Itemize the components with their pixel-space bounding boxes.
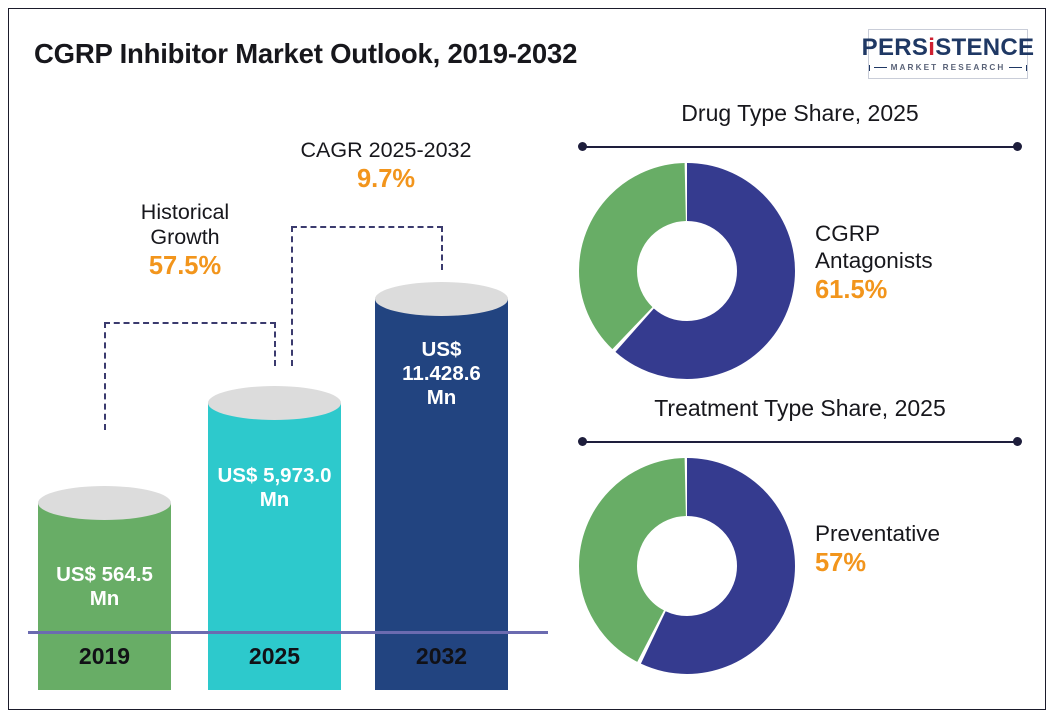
connector-cagr-horizontal	[291, 226, 443, 228]
page-title: CGRP Inhibitor Market Outlook, 2019-2032	[34, 38, 577, 70]
chart-baseline	[28, 631, 548, 634]
donut-chart-treatment-type	[578, 457, 796, 675]
bar-2019-cap	[38, 486, 171, 520]
annotation-cagr: CAGR 2025-2032 9.7%	[266, 138, 506, 195]
logo-tick-right	[1026, 65, 1027, 71]
x-axis-label-2019: 2019	[38, 643, 171, 670]
donut-legend-drug-type-value: 61.5%	[815, 275, 1030, 306]
divider-line	[583, 441, 1017, 443]
annotation-historical-growth-caption: Historical Growth	[110, 200, 260, 250]
divider-dot-right-icon	[1013, 142, 1022, 151]
connector-historical-horizontal	[104, 322, 276, 324]
donut-section-treatment-type-title: Treatment Type Share, 2025	[560, 395, 1040, 422]
donut-legend-treatment-type-name: Preventative	[815, 520, 1030, 547]
logo-dash-left	[874, 67, 887, 68]
donut-charts-panel: Drug Type Share, 2025 CGRP Antagonists 6…	[560, 100, 1040, 700]
donut-section-treatment-type: Treatment Type Share, 2025 Preventative …	[560, 395, 1040, 690]
logo-wordmark: PERSiSTENCE	[862, 36, 1035, 60]
bar-2032-cap	[375, 282, 508, 316]
connector-cagr-leg-2032	[441, 226, 443, 270]
annotation-cagr-caption: CAGR 2025-2032	[266, 138, 506, 163]
x-axis-label-2025: 2025	[208, 643, 341, 670]
infographic-canvas: CGRP Inhibitor Market Outlook, 2019-2032…	[0, 0, 1056, 720]
donut-section-drug-type-divider	[578, 142, 1022, 152]
connector-cagr-leg-2025	[291, 226, 293, 366]
bar-2025-value-label: US$ 5,973.0 Mn	[208, 464, 341, 512]
logo-word-part2: STENCE	[935, 34, 1034, 61]
donut-chart-drug-type	[578, 162, 796, 380]
divider-dot-right-icon	[1013, 437, 1022, 446]
donut-legend-drug-type: CGRP Antagonists 61.5%	[815, 220, 1030, 306]
bar-2025-cap	[208, 386, 341, 420]
bar-2032-value-label: US$ 11.428.6 Mn	[375, 338, 508, 409]
bar-2019-value-label: US$ 564.5 Mn	[38, 563, 171, 611]
annotation-historical-growth-value: 57.5%	[110, 252, 260, 282]
bar-chart: Historical Growth 57.5% CAGR 2025-2032 9…	[18, 100, 556, 690]
annotation-historical-growth: Historical Growth 57.5%	[110, 200, 260, 282]
connector-historical-leg-2025	[274, 322, 276, 366]
donut-legend-treatment-type-value: 57%	[815, 548, 1030, 579]
donut-section-drug-type-title: Drug Type Share, 2025	[560, 100, 1040, 127]
persistence-market-research-logo: PERSiSTENCE MARKET RESEARCH	[868, 29, 1028, 79]
x-axis-label-2032: 2032	[375, 643, 508, 670]
logo-tick-left	[869, 65, 870, 71]
logo-word-part1: PERS	[862, 34, 929, 61]
connector-historical-leg-2019	[104, 322, 106, 430]
logo-subtitle-row: MARKET RESEARCH	[869, 63, 1027, 72]
donut-section-treatment-type-divider	[578, 437, 1022, 447]
logo-subtitle: MARKET RESEARCH	[891, 63, 1006, 72]
donut-legend-drug-type-name: CGRP Antagonists	[815, 220, 1030, 274]
logo-dash-right	[1009, 67, 1022, 68]
donut-section-drug-type: Drug Type Share, 2025 CGRP Antagonists 6…	[560, 100, 1040, 395]
divider-line	[583, 146, 1017, 148]
annotation-cagr-value: 9.7%	[266, 165, 506, 195]
bar-2032: US$ 11.428.6 Mn	[375, 282, 508, 690]
donut-legend-treatment-type: Preventative 57%	[815, 520, 1030, 579]
